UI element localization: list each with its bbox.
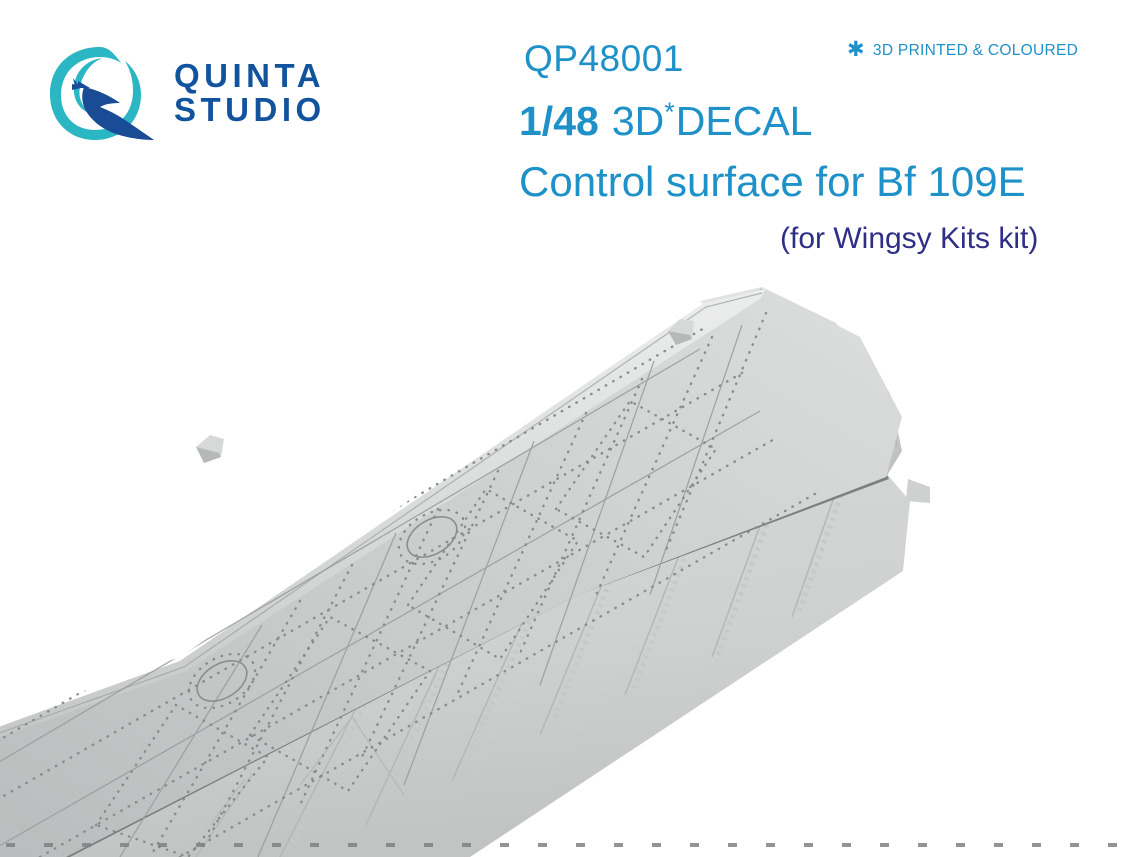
product-sku: QP48001 xyxy=(524,38,684,80)
decal-asterisk: * xyxy=(664,97,675,128)
brand-name-line-2: STUDIO xyxy=(174,93,326,127)
decal-type-prefix: 3D xyxy=(612,98,664,145)
trailing-tab-outboard xyxy=(906,479,930,503)
raised-hatch xyxy=(104,463,183,566)
product-photo xyxy=(0,265,1140,857)
leading-edge-vane-inboard xyxy=(196,435,224,463)
brand-logo: QUINTA STUDIO xyxy=(42,38,402,148)
page-title: Control surface for Bf 109E xyxy=(519,158,1026,206)
brand-wordmark: QUINTA STUDIO xyxy=(174,59,326,128)
asterisk-star-icon: ✱ xyxy=(847,41,865,59)
product-card: QUINTA STUDIO QP48001 ✱ 3D PRINTED & COL… xyxy=(0,0,1140,857)
printed-coloured-label: 3D PRINTED & COLOURED xyxy=(873,42,1078,60)
printed-coloured-badge: ✱ 3D PRINTED & COLOURED xyxy=(847,42,1078,60)
brand-name-line-1: QUINTA xyxy=(174,59,326,93)
page-subtitle: (for Wingsy Kits kit) xyxy=(780,222,1038,256)
quinta-q-swoosh-aircraft-logo-icon xyxy=(42,41,158,145)
decal-type-suffix: DECAL xyxy=(676,98,813,145)
scale-and-type-line: 1/48 3D * DECAL xyxy=(519,98,812,145)
scale-label: 1/48 xyxy=(519,98,599,145)
